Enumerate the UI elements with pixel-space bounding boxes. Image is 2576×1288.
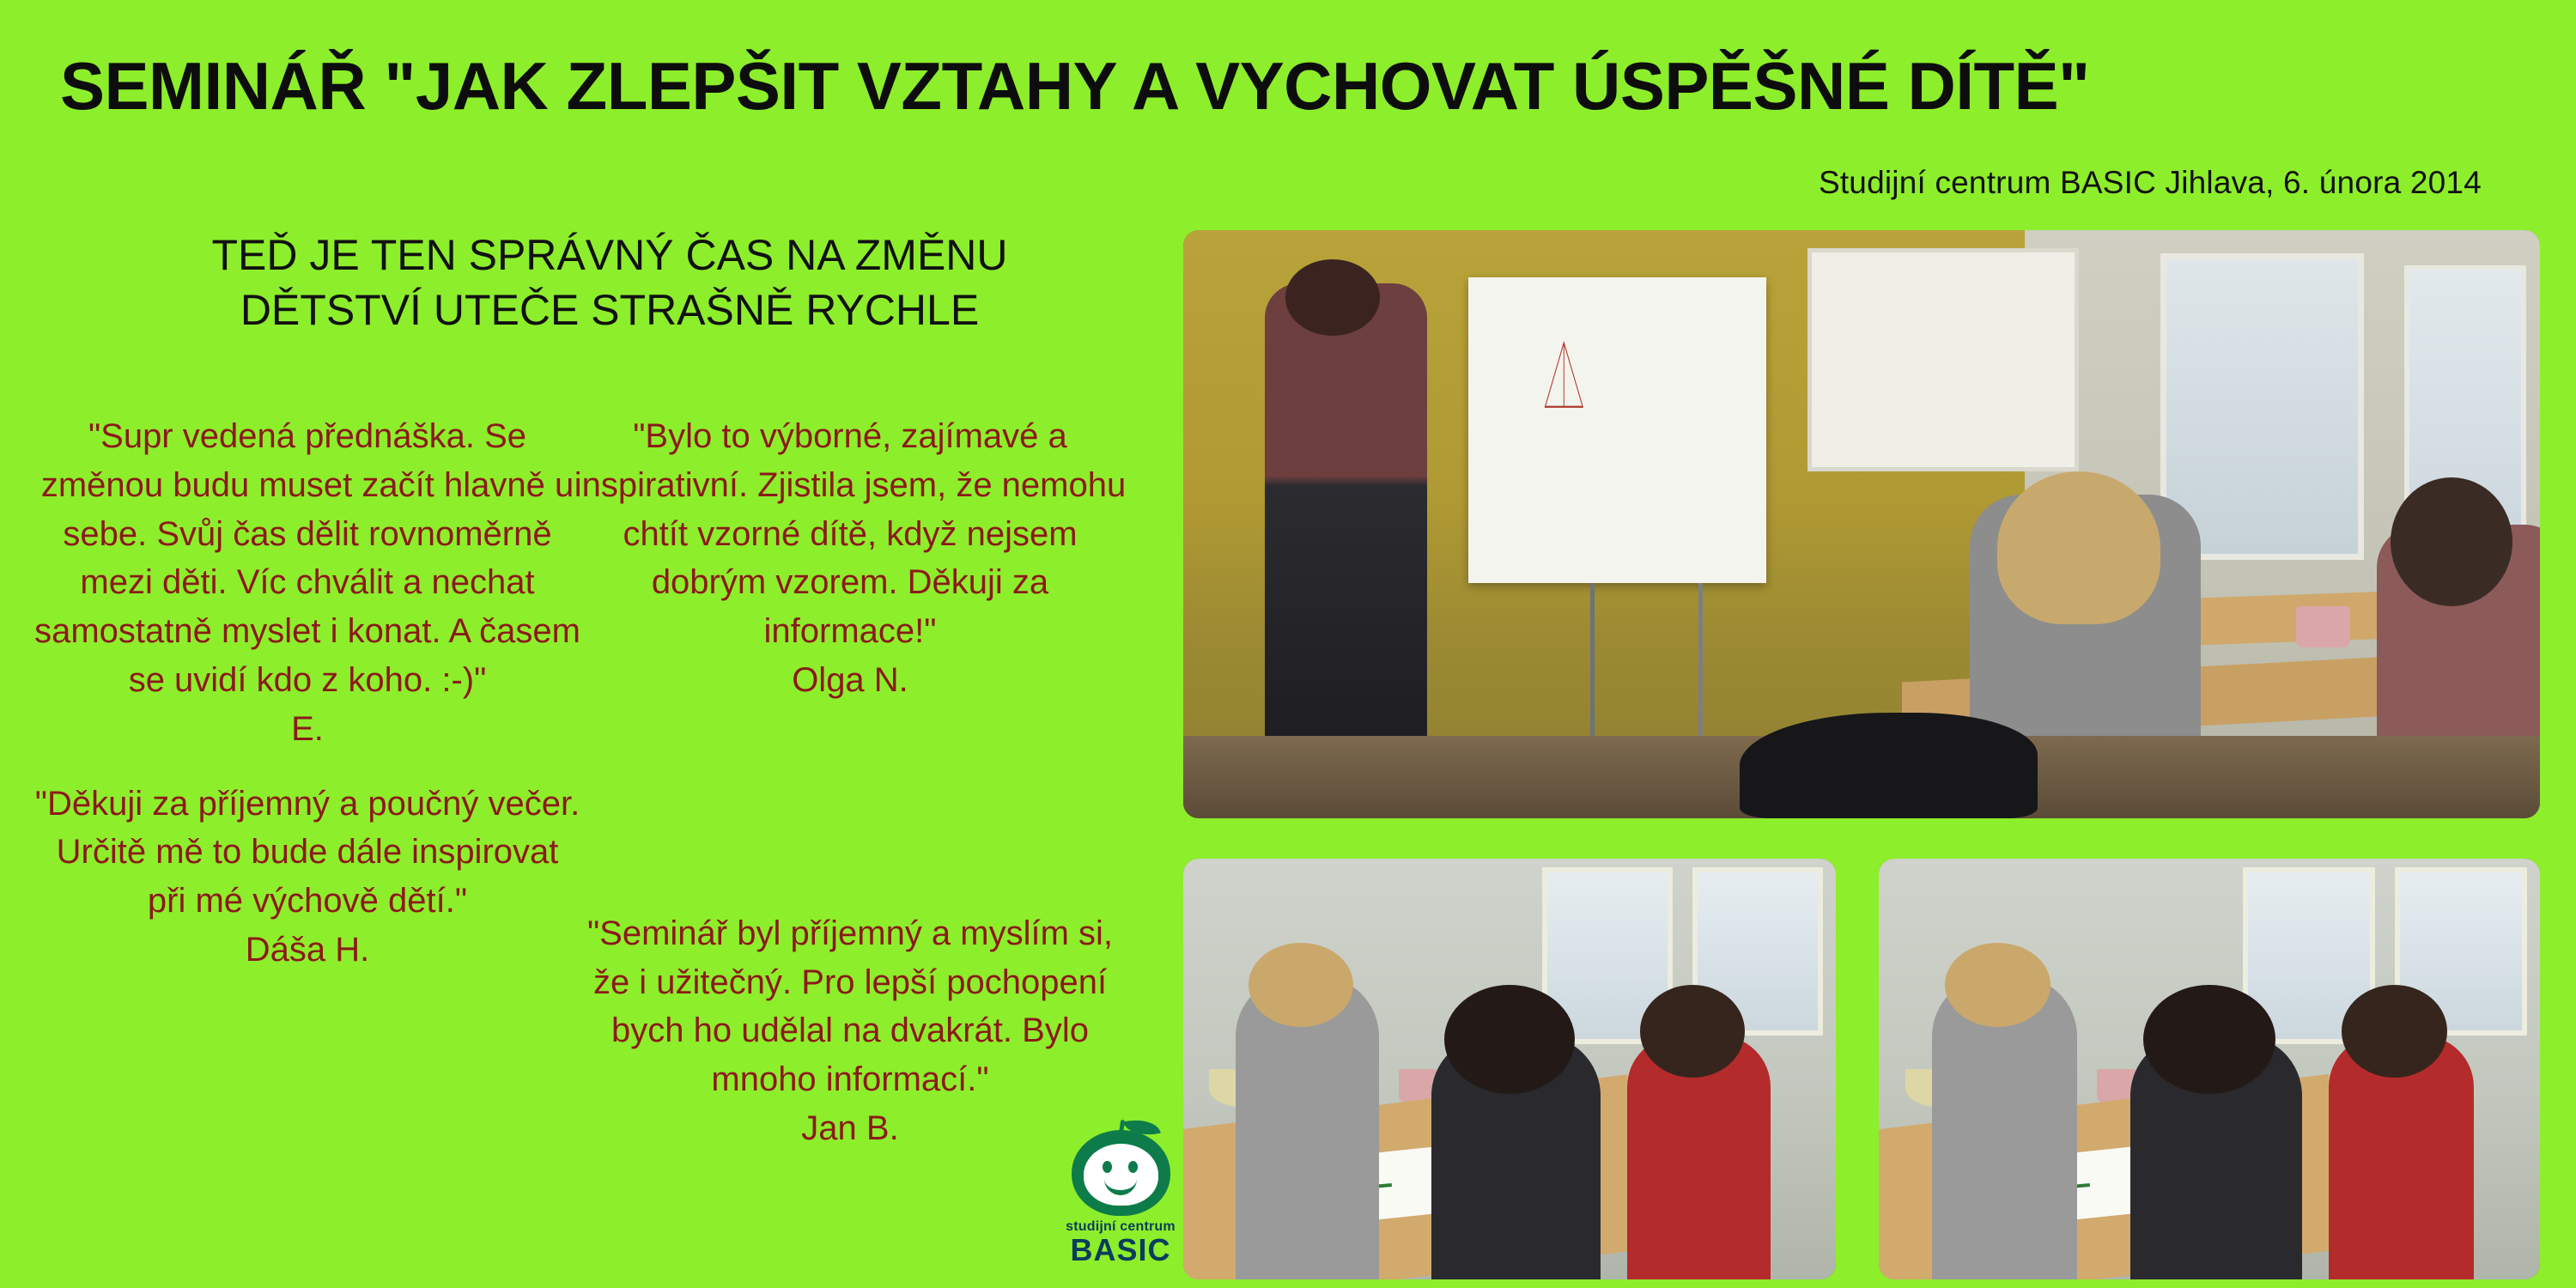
logo-name: BASIC [1043, 1235, 1198, 1266]
poster-root: SEMINÁŘ "JAK ZLEPŠIT VZTAHY A VYCHOVAT Ú… [0, 0, 2576, 1288]
photo-participants-right [1879, 859, 2540, 1279]
testimonial-text: "Bylo to výborné, zajímavé a inspirativn… [574, 417, 1126, 650]
testimonial-author: E. [33, 705, 582, 754]
testimonial-text: "Seminář byl příjemný a myslím si, že i … [587, 914, 1113, 1098]
event-subtitle: Studijní centrum BASIC Jihlava, 6. února… [1819, 165, 2482, 201]
testimonial: "Bylo to výborné, zajímavé a inspirativn… [571, 412, 1129, 705]
apple-logo-icon [1072, 1116, 1170, 1218]
photo-lecturer-flipchart [1183, 230, 2540, 818]
slogan: TEĎ JE TEN SPRÁVNÝ ČAS NA ZMĚNU DĚTSTVÍ … [52, 228, 1168, 337]
slogan-line-2: DĚTSTVÍ UTEČE STRAŠNĚ RYCHLE [52, 283, 1168, 337]
testimonials-right-column: "Bylo to výborné, zajímavé a inspirativn… [571, 412, 1129, 1165]
flipchart-diagram-icon [1543, 338, 1585, 424]
testimonial-author: Dáša H. [33, 926, 582, 975]
page-title: SEMINÁŘ "JAK ZLEPŠIT VZTAHY A VYCHOVAT Ú… [60, 47, 2533, 125]
photo-participants-left [1183, 859, 1836, 1279]
slogan-line-1: TEĎ JE TEN SPRÁVNÝ ČAS NA ZMĚNU [52, 228, 1168, 283]
testimonials-left-column: "Supr vedená přednáška. Se změnou budu m… [33, 412, 582, 987]
testimonial-text: "Děkuji za příjemný a poučný večer. Urči… [35, 785, 580, 920]
basic-logo: studijní centrum BASIC [1043, 1116, 1198, 1279]
testimonial-author: Olga N. [571, 656, 1129, 705]
testimonial: "Děkuji za příjemný a poučný večer. Urči… [33, 780, 582, 975]
testimonial: "Supr vedená přednáška. Se změnou budu m… [33, 412, 582, 754]
testimonial-text: "Supr vedená přednáška. Se změnou budu m… [34, 417, 580, 699]
